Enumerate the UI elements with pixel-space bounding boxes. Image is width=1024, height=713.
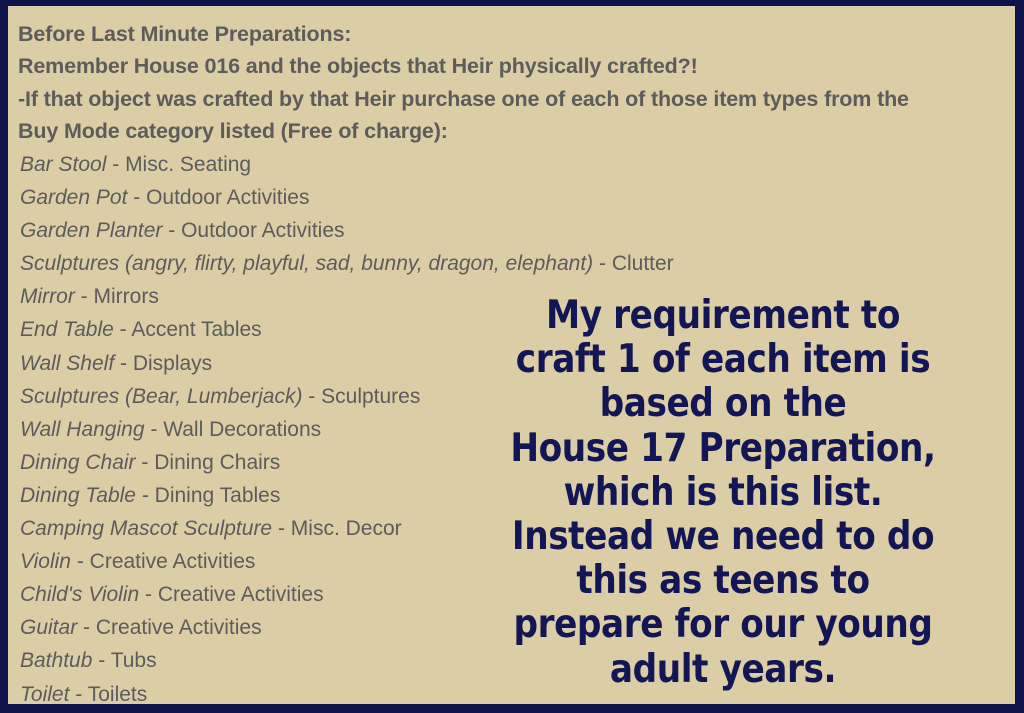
header-line-reminder: Remember House 016 and the objects that … xyxy=(18,50,1015,82)
item-name: Wall Shelf xyxy=(20,352,114,375)
item-row: Bar Stool - Misc. Seating xyxy=(20,148,1015,181)
item-category: Outdoor Activities xyxy=(146,186,309,209)
item-category: Mirrors xyxy=(94,285,159,308)
note-canvas: Before Last Minute Preparations: Remembe… xyxy=(8,6,1015,704)
header-line-instruction-cont: Buy Mode category listed (Free of charge… xyxy=(18,115,1015,147)
item-name: Mirror xyxy=(20,285,75,308)
item-category: Dining Tables xyxy=(155,484,281,507)
item-separator: - xyxy=(69,683,87,705)
item-category: Misc. Seating xyxy=(125,153,251,176)
item-row: Sculptures (angry, flirty, playful, sad,… xyxy=(20,247,1015,280)
item-separator: - xyxy=(127,186,146,209)
item-category: Tubs xyxy=(111,649,157,672)
caption-line: craft 1 of each item is xyxy=(494,338,952,382)
item-separator: - xyxy=(162,219,181,242)
header-line-instruction: -If that object was crafted by that Heir… xyxy=(18,83,1015,115)
item-name: Wall Hanging xyxy=(20,418,145,441)
item-row: Garden Pot - Outdoor Activities xyxy=(20,181,1015,214)
caption-line: prepare for our young xyxy=(494,603,952,647)
caption-line: adult years. xyxy=(494,648,952,692)
item-category: Wall Decorations xyxy=(163,418,321,441)
caption-line: Instead we need to do xyxy=(494,515,952,559)
item-category: Toilets xyxy=(88,683,148,705)
item-separator: - xyxy=(145,418,164,441)
item-separator: - xyxy=(114,352,133,375)
item-separator: - xyxy=(302,385,321,408)
item-name: Dining Chair xyxy=(20,451,136,474)
caption-line: based on the xyxy=(494,382,952,426)
item-name: Bar Stool xyxy=(20,153,106,176)
item-row: Garden Planter - Outdoor Activities xyxy=(20,214,1015,247)
item-separator: - xyxy=(136,451,155,474)
item-separator: - xyxy=(136,484,155,507)
header-line-title: Before Last Minute Preparations: xyxy=(18,18,1015,50)
item-category: Displays xyxy=(133,352,212,375)
item-separator: - xyxy=(272,517,291,540)
item-name: Sculptures (angry, flirty, playful, sad,… xyxy=(20,252,593,275)
item-separator: - xyxy=(593,252,612,275)
item-category: Creative Activities xyxy=(96,616,262,639)
item-name: Garden Planter xyxy=(20,219,162,242)
item-name: Camping Mascot Sculpture xyxy=(20,517,272,540)
item-category: Misc. Decor xyxy=(291,517,402,540)
item-separator: - xyxy=(92,649,110,672)
item-separator: - xyxy=(77,616,96,639)
header-block: Before Last Minute Preparations: Remembe… xyxy=(18,18,1015,147)
item-name: Dining Table xyxy=(20,484,136,507)
screenshot-root: Before Last Minute Preparations: Remembe… xyxy=(0,0,1024,713)
item-separator: - xyxy=(106,153,125,176)
item-name: Violin xyxy=(20,550,71,573)
item-category: Clutter xyxy=(612,252,674,275)
item-separator: - xyxy=(139,583,158,606)
item-category: Dining Chairs xyxy=(154,451,280,474)
caption-line: House 17 Preparation, xyxy=(494,427,952,471)
item-separator: - xyxy=(75,285,94,308)
item-separator: - xyxy=(71,550,90,573)
item-name: Toilet xyxy=(20,683,69,705)
overlay-caption: My requirement tocraft 1 of each item is… xyxy=(463,294,983,692)
item-name: End Table xyxy=(20,318,114,341)
item-name: Bathtub xyxy=(20,649,92,672)
item-separator: - xyxy=(114,318,132,341)
item-name: Sculptures (Bear, Lumberjack) xyxy=(20,385,302,408)
caption-line: My requirement to xyxy=(494,294,952,338)
caption-line: this as teens to xyxy=(494,559,952,603)
item-category: Creative Activities xyxy=(158,583,324,606)
item-category: Accent Tables xyxy=(131,318,261,341)
item-name: Garden Pot xyxy=(20,186,127,209)
item-name: Child's Violin xyxy=(20,583,139,606)
item-name: Guitar xyxy=(20,616,77,639)
item-category: Outdoor Activities xyxy=(181,219,344,242)
caption-line: which is this list. xyxy=(494,471,952,515)
item-category: Creative Activities xyxy=(90,550,256,573)
item-category: Sculptures xyxy=(321,385,420,408)
